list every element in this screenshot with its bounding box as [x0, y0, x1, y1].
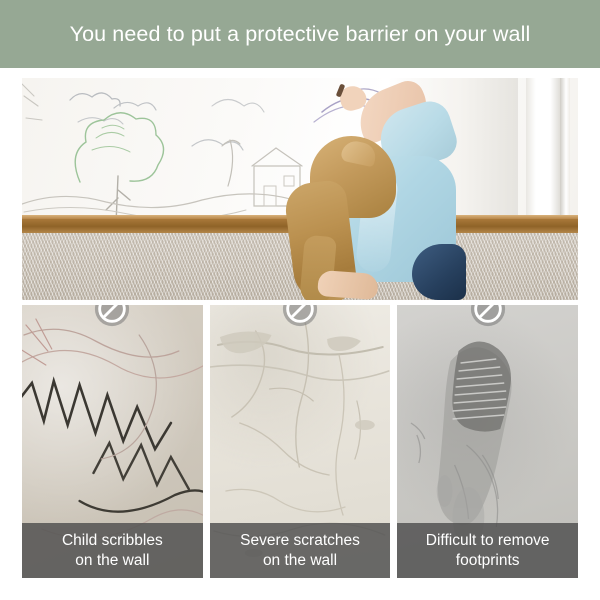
child-leg — [317, 270, 379, 300]
child-figure — [284, 86, 464, 300]
panel-caption-scribbles: Child scribbles on the wall — [22, 523, 203, 578]
panel-caption-text: Severe scratches on the wall — [240, 531, 360, 571]
page-title: You need to put a protective barrier on … — [70, 22, 531, 47]
panel-caption-text: Child scribbles on the wall — [62, 531, 163, 571]
hero-photo-child-drawing-on-wall — [22, 78, 578, 300]
hero-door-column — [526, 78, 570, 220]
child-jeans — [412, 244, 466, 300]
prohibition-icon — [281, 305, 319, 328]
panel-severe-scratches: Severe scratches on the wall — [210, 305, 391, 578]
problem-panels: Child scribbles on the wall — [22, 305, 578, 578]
panel-difficult-footprints: Difficult to remove footprints — [397, 305, 578, 578]
panel-caption-scratches: Severe scratches on the wall — [210, 523, 391, 578]
header-bar: You need to put a protective barrier on … — [0, 0, 600, 68]
panel-caption-footprints: Difficult to remove footprints — [397, 523, 578, 578]
panel-child-scribbles: Child scribbles on the wall — [22, 305, 203, 578]
hero-column-trim — [560, 78, 570, 220]
panel-caption-text: Difficult to remove footprints — [426, 531, 550, 571]
promo-banner: You need to put a protective barrier on … — [0, 0, 600, 600]
prohibition-icon — [469, 305, 507, 328]
prohibition-icon — [93, 305, 131, 328]
